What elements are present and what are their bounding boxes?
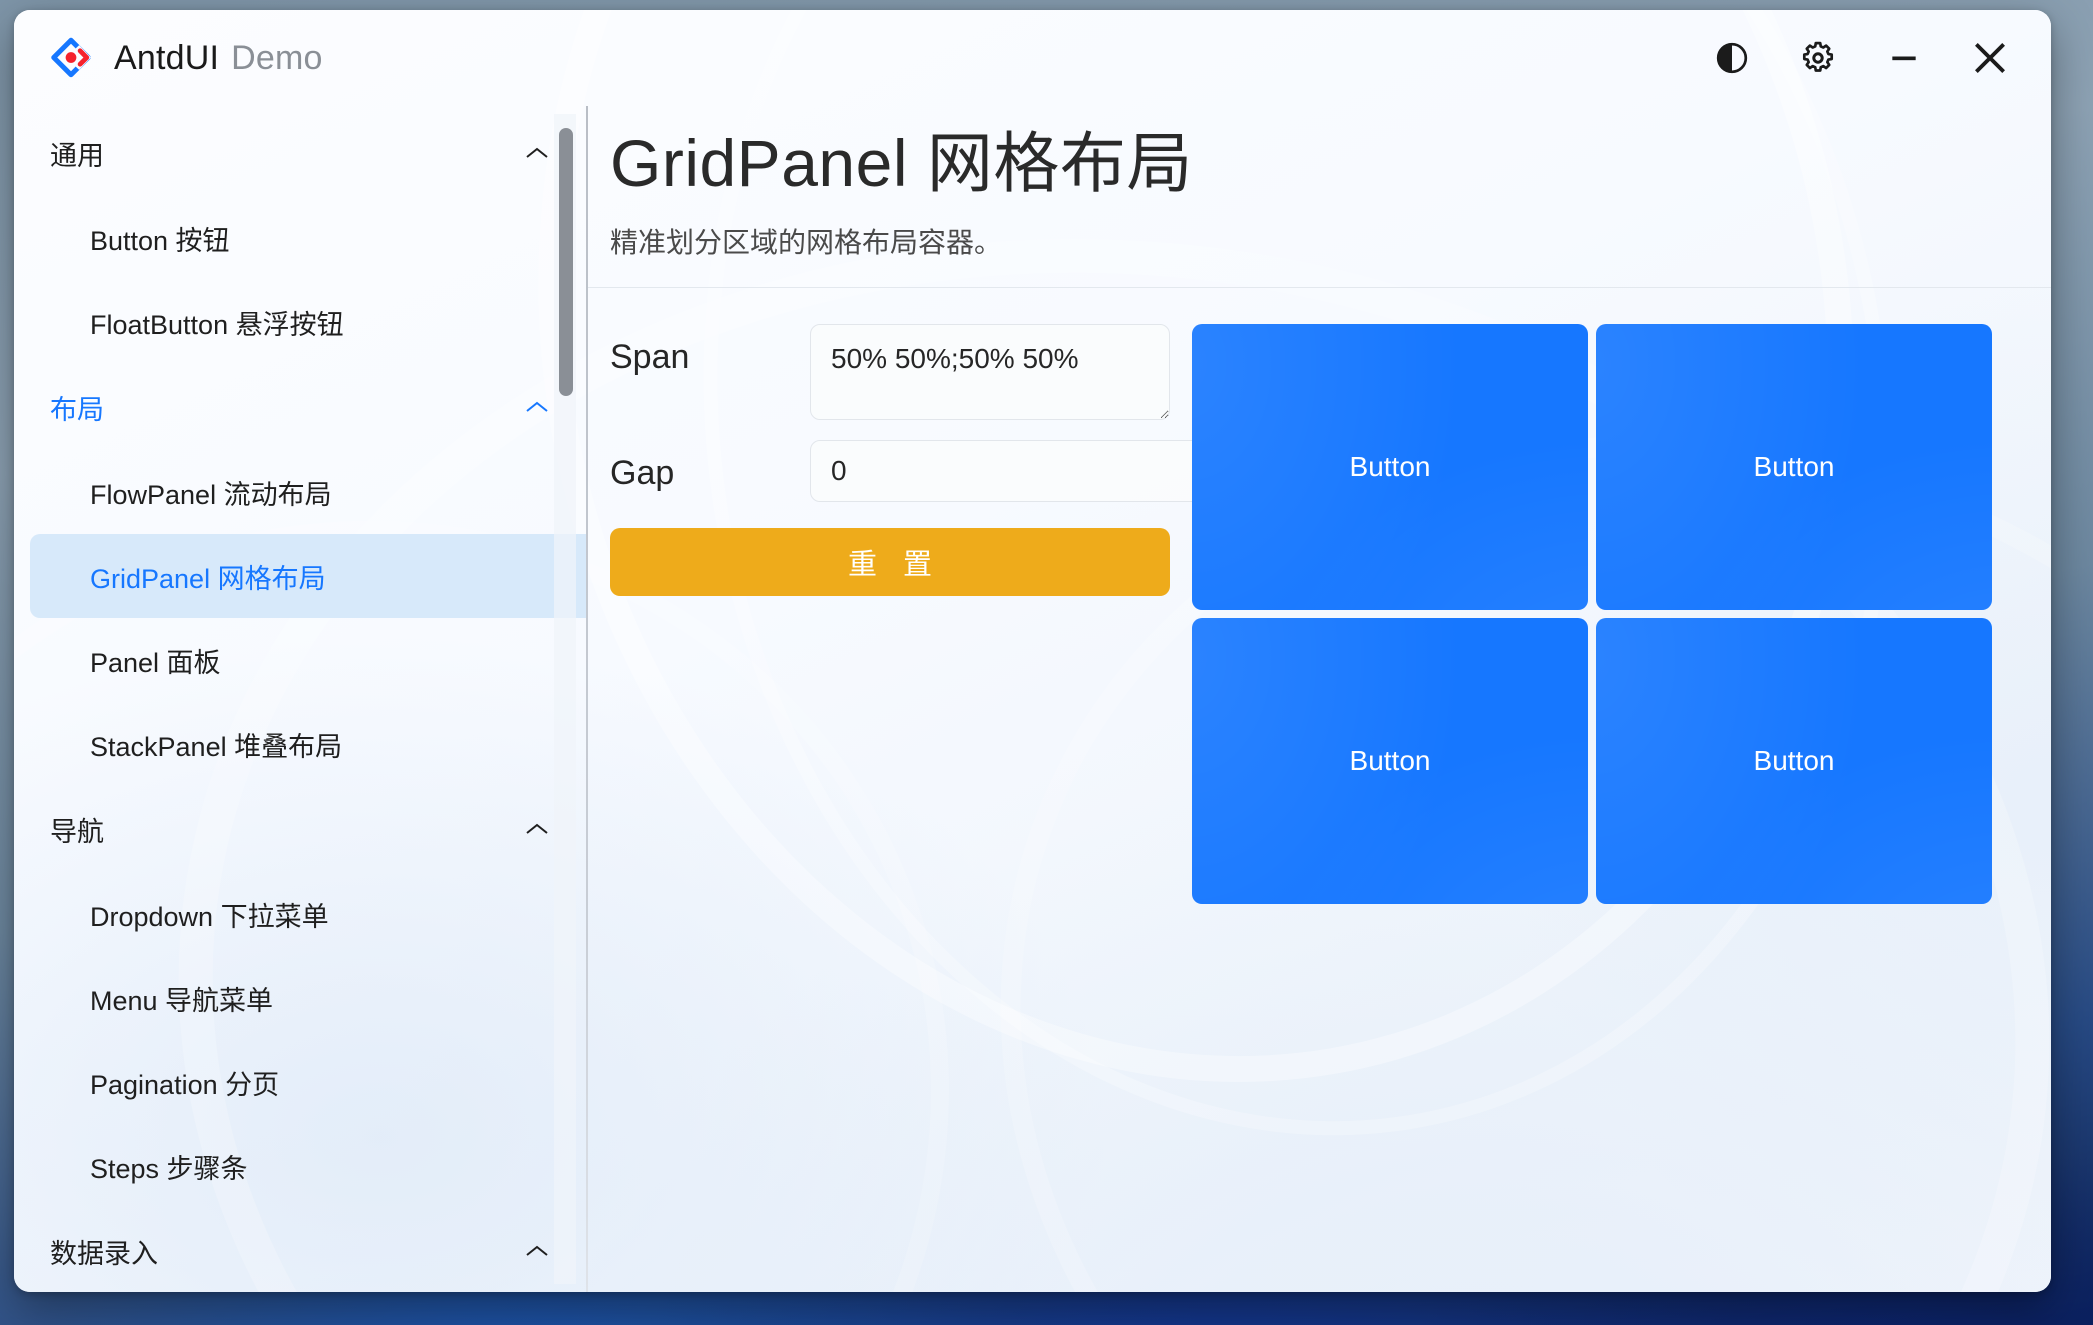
half-circle-icon xyxy=(1714,40,1750,76)
page-description: 精准划分区域的网格布局容器。 xyxy=(610,221,2051,261)
title-bar: AntdUIDemo xyxy=(14,10,2051,106)
chevron-up-icon xyxy=(524,1243,550,1259)
page-header: GridPanel 网格布局 精准划分区域的网格布局容器。 xyxy=(588,106,2051,261)
sidebar-group-label: 通用 xyxy=(50,134,104,173)
sidebar-group-layout[interactable]: 布局 xyxy=(14,364,586,450)
sidebar-item-label: Button 按钮 xyxy=(90,219,230,258)
sidebar-group-label: 布局 xyxy=(50,388,104,427)
sidebar-item-label: Pagination 分页 xyxy=(90,1063,279,1102)
window-controls xyxy=(1689,10,2033,106)
sidebar-item-pagination[interactable]: Pagination 分页 xyxy=(30,1040,586,1124)
sidebar-item-label: FloatButton 悬浮按钮 xyxy=(90,303,344,342)
sidebar-group-navigation[interactable]: 导航 xyxy=(14,786,586,872)
close-icon xyxy=(1967,35,2013,81)
app-title-suffix: Demo xyxy=(231,39,323,77)
sidebar-item-label: GridPanel 网格布局 xyxy=(90,557,326,596)
control-form: Span Gap 重 置 xyxy=(610,324,1170,596)
sidebar-item-label: Steps 步骤条 xyxy=(90,1147,248,1186)
sidebar-item-label: Dropdown 下拉菜单 xyxy=(90,895,329,934)
gap-input[interactable] xyxy=(810,440,1213,502)
sidebar-item-flowpanel[interactable]: FlowPanel 流动布局 xyxy=(30,450,586,534)
span-field-row: Span xyxy=(610,324,1170,420)
close-button[interactable] xyxy=(1947,22,2033,94)
minimize-icon xyxy=(1884,38,1924,78)
demo-area: Span Gap 重 置 Button xyxy=(588,288,2051,904)
grid-button-label: Button xyxy=(1350,745,1431,777)
gap-label: Gap xyxy=(610,440,810,493)
sidebar-item-label: Menu 导航菜单 xyxy=(90,979,273,1018)
sidebar-navigation: 通用 Button 按钮 FloatButton 悬浮按钮 布局 xyxy=(14,106,586,1292)
app-brand: AntdUIDemo xyxy=(48,35,323,81)
gear-icon xyxy=(1799,39,1837,77)
settings-button[interactable] xyxy=(1775,22,1861,94)
sidebar-item-label: StackPanel 堆叠布局 xyxy=(90,725,342,764)
span-input[interactable] xyxy=(810,324,1170,420)
reset-button[interactable]: 重 置 xyxy=(610,528,1170,596)
grid-panel-preview: Button Button Button Button xyxy=(1192,324,1992,904)
theme-toggle-button[interactable] xyxy=(1689,22,1775,94)
grid-button-label: Button xyxy=(1754,451,1835,483)
minimize-button[interactable] xyxy=(1861,22,1947,94)
sidebar-scrollbar-track[interactable] xyxy=(554,114,576,1284)
window-body: 通用 Button 按钮 FloatButton 悬浮按钮 布局 xyxy=(14,106,2051,1292)
grid-button-1[interactable]: Button xyxy=(1192,324,1588,610)
sidebar-item-steps[interactable]: Steps 步骤条 xyxy=(30,1124,586,1208)
sidebar-group-general[interactable]: 通用 xyxy=(14,110,586,196)
desktop-background: AntdUIDemo xyxy=(0,0,2093,1325)
chevron-up-icon xyxy=(524,821,550,837)
sidebar-item-stackpanel[interactable]: StackPanel 堆叠布局 xyxy=(30,702,586,786)
sidebar-item-panel[interactable]: Panel 面板 xyxy=(30,618,586,702)
app-title: AntdUIDemo xyxy=(114,39,323,78)
chevron-up-icon xyxy=(524,399,550,415)
sidebar-item-menu[interactable]: Menu 导航菜单 xyxy=(30,956,586,1040)
grid-button-2[interactable]: Button xyxy=(1596,324,1992,610)
sidebar-item-gridpanel[interactable]: GridPanel 网格布局 xyxy=(30,534,586,618)
span-label: Span xyxy=(610,324,810,377)
sidebar-group-label: 数据录入 xyxy=(50,1232,158,1271)
sidebar-group-data-entry[interactable]: 数据录入 xyxy=(14,1208,586,1292)
chevron-up-icon xyxy=(524,145,550,161)
sidebar-item-dropdown[interactable]: Dropdown 下拉菜单 xyxy=(30,872,586,956)
content-area: GridPanel 网格布局 精准划分区域的网格布局容器。 Span Gap xyxy=(588,106,2051,1292)
app-title-main: AntdUI xyxy=(114,39,219,77)
antdui-diamond-logo-icon xyxy=(48,35,94,81)
grid-button-label: Button xyxy=(1350,451,1431,483)
sidebar-group-label: 导航 xyxy=(50,810,104,849)
sidebar-item-label: Panel 面板 xyxy=(90,641,221,680)
grid-button-label: Button xyxy=(1754,745,1835,777)
sidebar-item-floatbutton[interactable]: FloatButton 悬浮按钮 xyxy=(30,280,586,364)
grid-button-4[interactable]: Button xyxy=(1596,618,1992,904)
grid-button-3[interactable]: Button xyxy=(1192,618,1588,904)
app-window: AntdUIDemo xyxy=(14,10,2051,1292)
page-title: GridPanel 网格布局 xyxy=(610,122,2051,205)
gap-field-row: Gap xyxy=(610,440,1170,502)
sidebar-item-label: FlowPanel 流动布局 xyxy=(90,473,332,512)
sidebar-scrollbar-thumb[interactable] xyxy=(559,128,573,396)
sidebar-item-button[interactable]: Button 按钮 xyxy=(30,196,586,280)
